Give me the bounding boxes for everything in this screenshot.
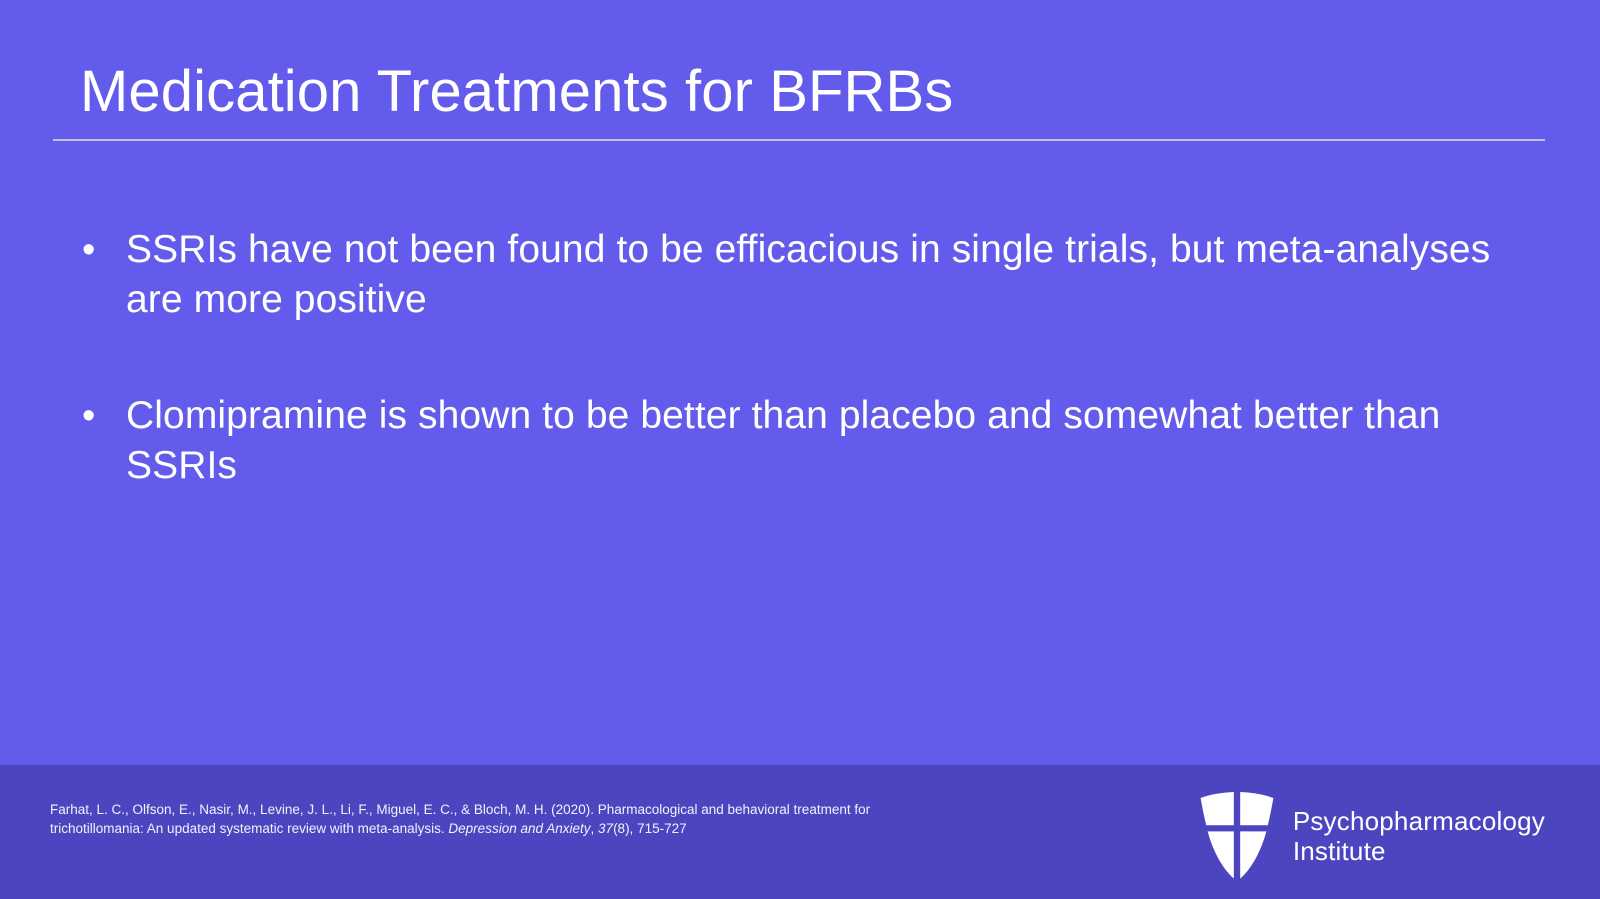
brand-wordmark-line2: Institute — [1293, 836, 1545, 866]
citation-issue-pages: (8), 715-727 — [613, 821, 687, 836]
citation-journal-name: Depression and Anxiety — [448, 821, 590, 836]
page-title: Medication Treatments for BFRBs — [80, 60, 1545, 125]
title-block: Medication Treatments for BFRBs — [53, 60, 1545, 141]
brand-wordmark: Psychopharmacology Institute — [1293, 806, 1545, 866]
footer-band: Farhat, L. C., Olfson, E., Nasir, M., Le… — [0, 765, 1600, 899]
bullet-dot-icon: • — [78, 225, 126, 275]
citation-reference: Farhat, L. C., Olfson, E., Nasir, M., Le… — [50, 801, 950, 838]
citation-volume: 37 — [598, 821, 613, 836]
citation-separator: , — [591, 821, 599, 836]
list-item: • Clomipramine is shown to be better tha… — [78, 391, 1498, 491]
list-item-text: Clomipramine is shown to be better than … — [126, 391, 1498, 491]
brand-logo: Psychopharmacology Institute — [1199, 792, 1545, 880]
list-item-text: SSRIs have not been found to be efficaci… — [126, 225, 1498, 325]
shield-logo-icon — [1199, 792, 1275, 880]
brand-wordmark-line1: Psychopharmacology — [1293, 806, 1545, 836]
bullet-list: • SSRIs have not been found to be effica… — [78, 225, 1498, 491]
slide-canvas: Medication Treatments for BFRBs • SSRIs … — [0, 0, 1600, 899]
list-item: • SSRIs have not been found to be effica… — [78, 225, 1498, 325]
title-divider — [53, 139, 1545, 141]
bullet-dot-icon: • — [78, 391, 126, 441]
